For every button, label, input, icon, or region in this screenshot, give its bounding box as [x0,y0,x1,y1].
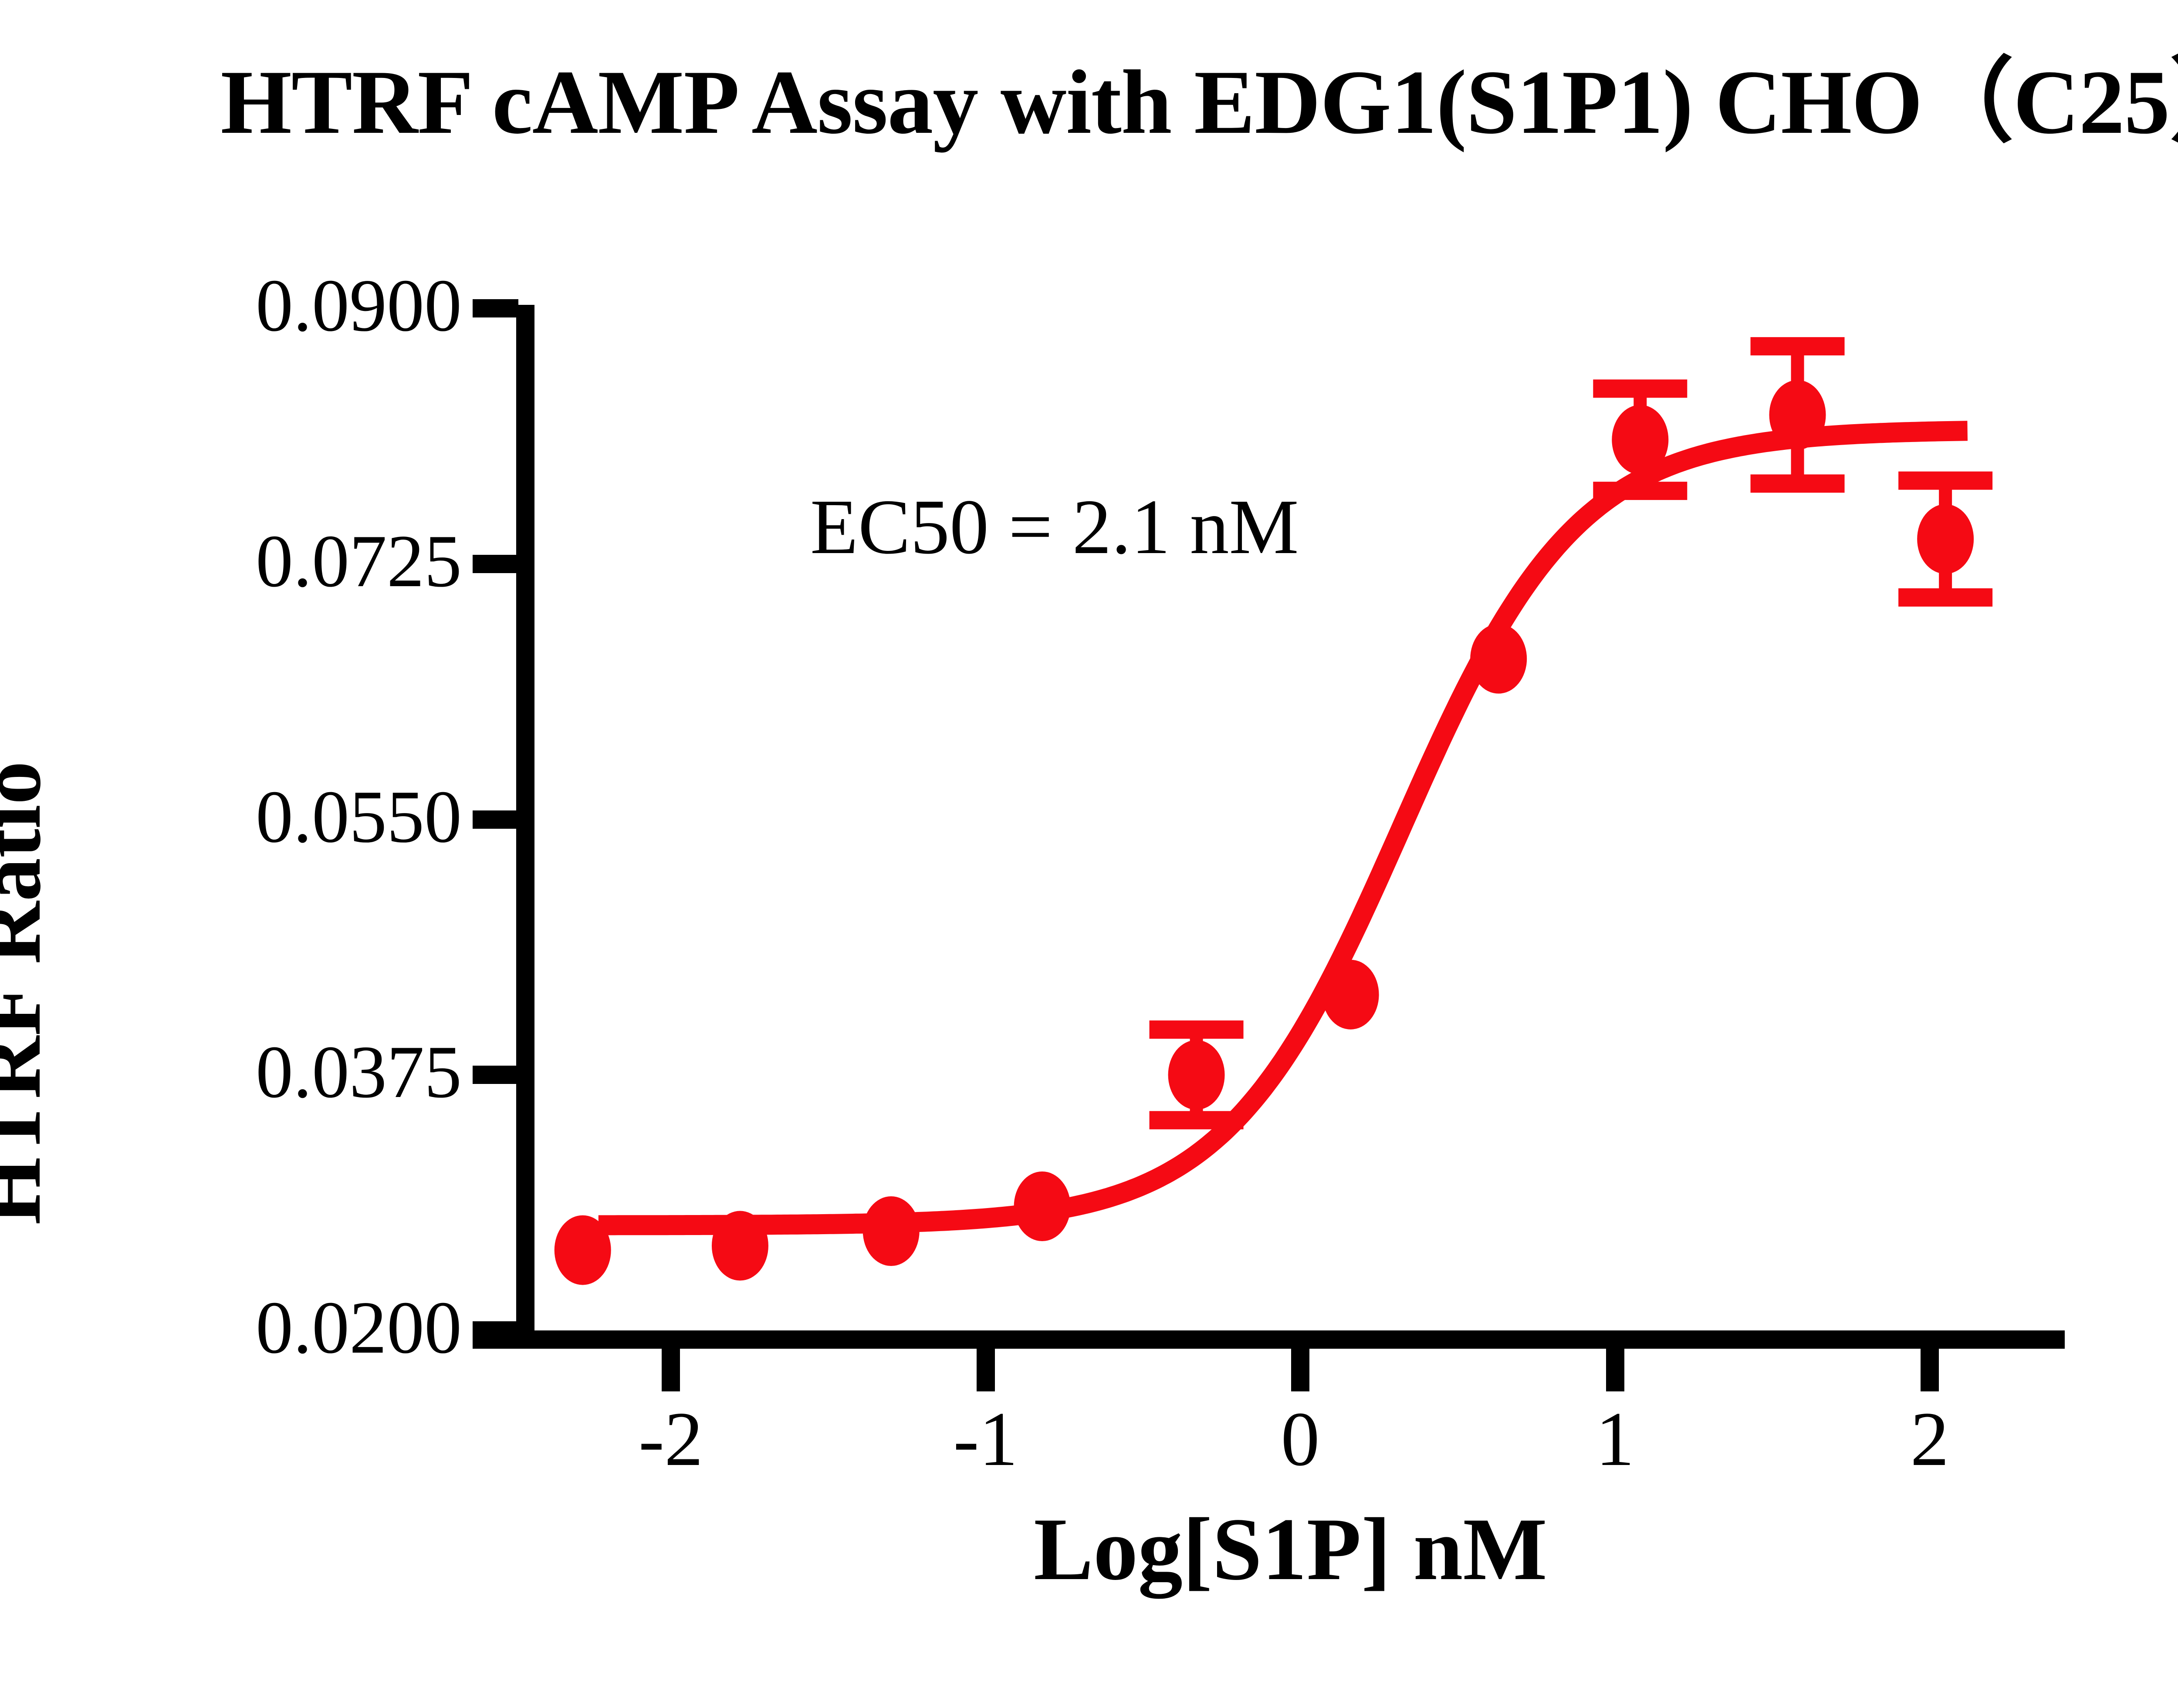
plot-svg [516,305,2067,1333]
data-point [1470,624,1527,694]
data-point [1322,960,1379,1030]
y-tick-mark [473,810,518,829]
x-tick-mark [977,1346,995,1391]
x-tick-label: -1 [877,1400,1095,1478]
data-point [1612,405,1668,475]
data-point [1769,380,1826,450]
data-point [1917,504,1974,574]
y-tick-mark [473,555,518,573]
error-bar-layer [1150,346,1993,1120]
y-tick-label: 0.0200 [157,1290,462,1365]
y-axis-title: HTRF Ratio [0,666,54,1320]
y-tick-mark [473,299,518,317]
data-point [1168,1040,1225,1110]
y-axis-line [516,305,534,1349]
x-axis-title: Log[S1P] nM [516,1505,2065,1594]
x-tick-label: 0 [1191,1400,1409,1478]
y-tick-label: 0.0900 [157,268,462,343]
data-point [555,1215,611,1285]
y-tick-mark [473,1321,518,1340]
chart-figure: HTRF cAMP Assay with EDG1(S1P1) CHO（C25）… [0,0,2178,1708]
y-tick-label: 0.0550 [157,780,462,854]
x-tick-label: 1 [1506,1400,1724,1478]
data-point [1014,1171,1071,1241]
x-tick-mark [662,1346,680,1391]
x-axis-line [473,1330,2065,1349]
y-tick-label: 0.0375 [157,1035,462,1110]
x-tick-mark [1921,1346,1939,1391]
data-point [863,1196,920,1266]
x-tick-label: 2 [1821,1400,2039,1478]
y-tick-mark [473,1066,518,1084]
chart-title: HTRF cAMP Assay with EDG1(S1P1) CHO（C25） [0,57,2178,148]
plot-area [516,305,2065,1330]
x-tick-mark [1606,1346,1624,1391]
x-tick-label: -2 [562,1400,780,1478]
y-tick-label: 0.0725 [157,524,462,599]
fit-curve-layer [599,431,1968,1225]
data-point [712,1211,768,1281]
fit-curve [599,431,1968,1225]
data-point-layer [555,380,1974,1285]
x-tick-mark [1291,1346,1309,1391]
